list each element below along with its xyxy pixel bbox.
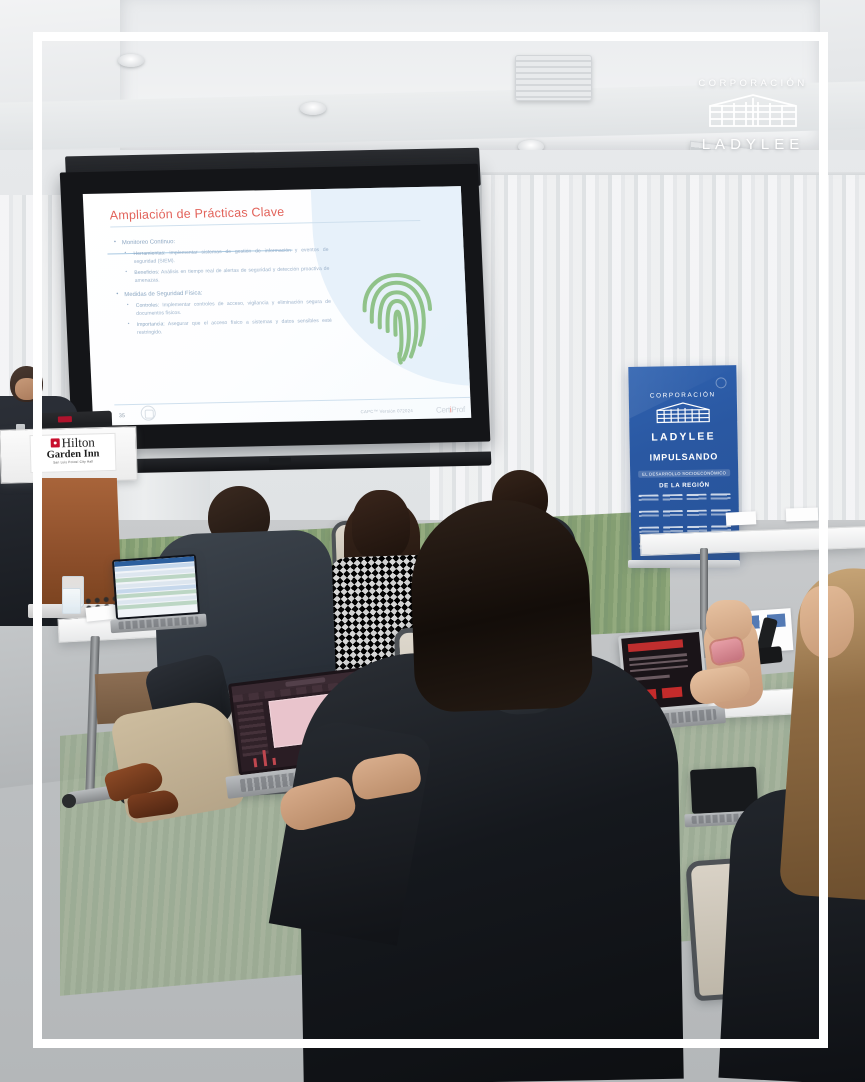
corporacion-ladylee-watermark: CORPORACIÓN LADYLEE [683, 78, 823, 153]
banner-name: LADYLEE [629, 430, 737, 444]
sponsor-logo [687, 494, 707, 502]
downlight-icon [300, 102, 326, 115]
hilton-location: San Luis Potosí City Hall [31, 459, 115, 465]
slide-subbullet: Beneficios: Análisis en tiempo real de a… [114, 266, 330, 286]
deck-title-bar [628, 639, 683, 652]
slide-bullet-heading: Monitoreo Continuo: [113, 235, 328, 249]
paper [786, 507, 818, 521]
conference-photo: Ampliación de Prácticas Clave Monitoreo … [0, 0, 865, 1082]
slide-title: Ampliación de Prácticas Clave [109, 205, 284, 223]
presentation-slide: Ampliación de Prácticas Clave Monitoreo … [83, 186, 472, 426]
sponsor-logo [711, 493, 731, 501]
hilton-garden-inn-sign: Hilton Garden Inn San Luis Potosí City H… [30, 433, 117, 473]
ceiling-vent [515, 55, 592, 101]
building-colonnade-icon [654, 401, 712, 426]
slide-subbullet: Importancia: Asegurar que el acceso físi… [117, 317, 333, 337]
projection-screen: Ampliación de Prácticas Clave Monitoreo … [59, 154, 490, 457]
spreadsheet-content [114, 556, 198, 617]
banner-tagline: DE LA REGIÓN [630, 481, 738, 490]
sponsor-logo [663, 494, 683, 502]
sponsor-logo [639, 494, 659, 502]
slide-subbullet: Controles: Implementar controles de acce… [116, 299, 332, 319]
slide-body: Monitoreo Continuo: Herramientas: Implem… [113, 235, 333, 343]
slide-bullet-group: Medidas de Seguridad Física: Controles: … [115, 287, 332, 338]
sponsor-logo [663, 510, 683, 518]
caster-wheel [62, 794, 76, 808]
laptop-keys[interactable] [118, 616, 199, 629]
shield-seal-icon [140, 405, 156, 420]
chart-bar [253, 758, 257, 767]
sponsor-logo [639, 510, 659, 518]
banner-dot-decor [715, 377, 726, 388]
chart-bar [262, 750, 267, 765]
laptop-screen [112, 554, 200, 620]
speaker-face [15, 378, 39, 400]
chart-bar [273, 758, 277, 765]
hilton-h-mark-icon [50, 438, 59, 447]
attendee-face [800, 586, 854, 658]
banner-corp-label: CORPORACIÓN [629, 391, 737, 400]
attendee-head [352, 490, 410, 560]
slide-bullet-heading: Medidas de Seguridad Física: [115, 287, 330, 301]
watermark-name: LADYLEE [683, 136, 823, 153]
downlight-icon [118, 54, 144, 67]
attendee-hand [706, 600, 752, 642]
attendee-hair [408, 497, 593, 713]
slide-bullet-group: Monitoreo Continuo: Herramientas: Implem… [113, 235, 330, 286]
slide-subbullet: Herramientas: Implementar sistemas de ge… [113, 247, 329, 267]
certiprof-logo: CertiProf [436, 405, 465, 415]
fingerprint-icon [356, 265, 439, 367]
slide-page-number: 35 [119, 413, 125, 419]
building-colonnade-icon [705, 92, 801, 130]
slide-footer-rule [114, 397, 470, 405]
sponsor-logo [687, 510, 707, 518]
banner-subline: EL DESARROLLO SOCIOECONÓMICO [638, 469, 730, 478]
water-glass [62, 588, 81, 614]
screen-frame: Ampliación de Prácticas Clave Monitoreo … [60, 164, 491, 450]
slide-version-text: CAPC™ Versión 072024 [360, 408, 413, 414]
watermark-corp-label: CORPORACIÓN [683, 78, 823, 89]
screen-pull-tab [269, 458, 291, 465]
hilton-name: Hilton [61, 435, 95, 449]
deck-line [630, 665, 688, 673]
banner-headline: IMPULSANDO [630, 451, 738, 463]
paper [726, 511, 757, 526]
banner-stand [628, 560, 740, 568]
deck-accent-box [662, 687, 683, 699]
